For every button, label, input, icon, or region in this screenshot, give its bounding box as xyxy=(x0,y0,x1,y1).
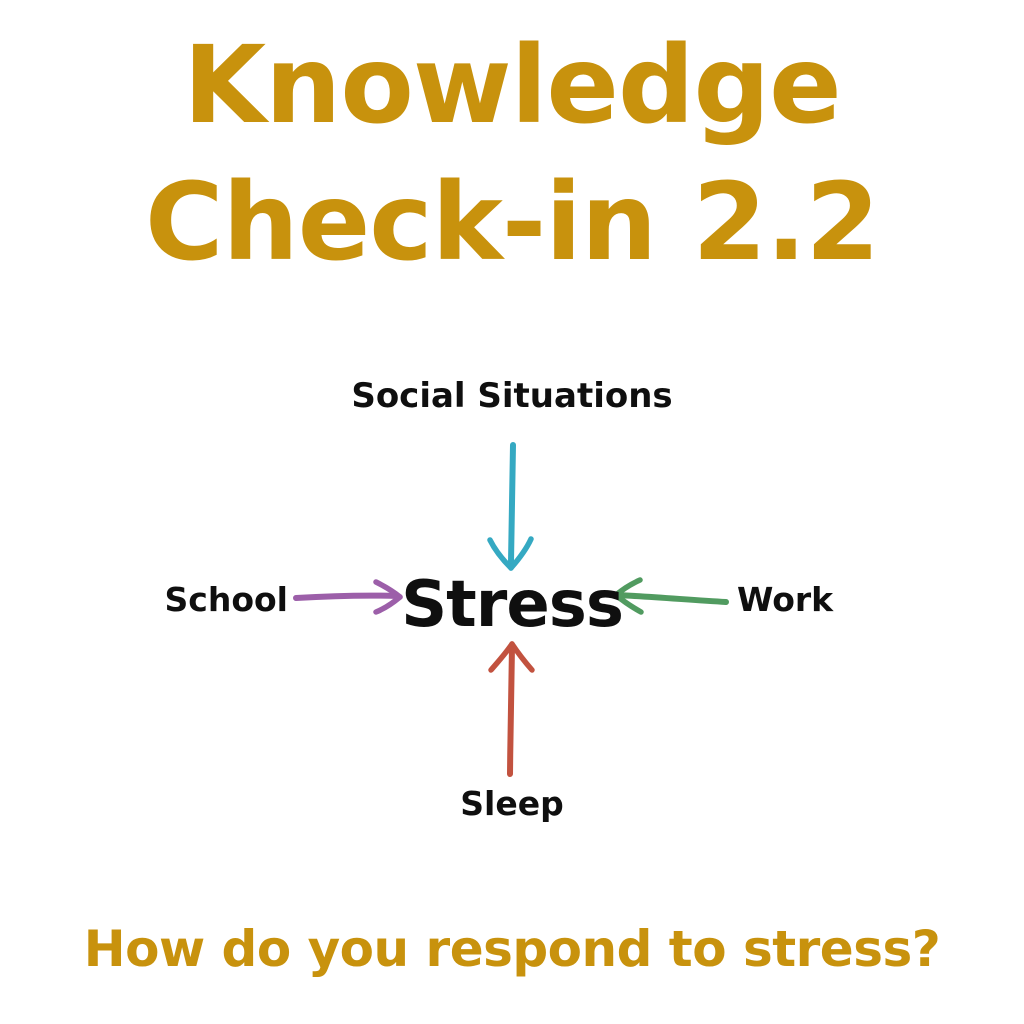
stress-concept-diagram: Social Situations School Stress Work Sle… xyxy=(0,340,1024,860)
slide-canvas: Knowledge Check-in 2.2 xyxy=(0,0,1024,1024)
node-sleep: Sleep xyxy=(0,784,1024,823)
node-work: Work xyxy=(737,580,917,619)
arrow-sleep-icon xyxy=(491,644,532,774)
node-social-situations: Social Situations xyxy=(0,376,1024,416)
footer-question: How do you respond to stress? xyxy=(0,920,1024,978)
page-title: Knowledge Check-in 2.2 xyxy=(0,18,1024,292)
arrow-social-situations-icon xyxy=(490,445,531,568)
